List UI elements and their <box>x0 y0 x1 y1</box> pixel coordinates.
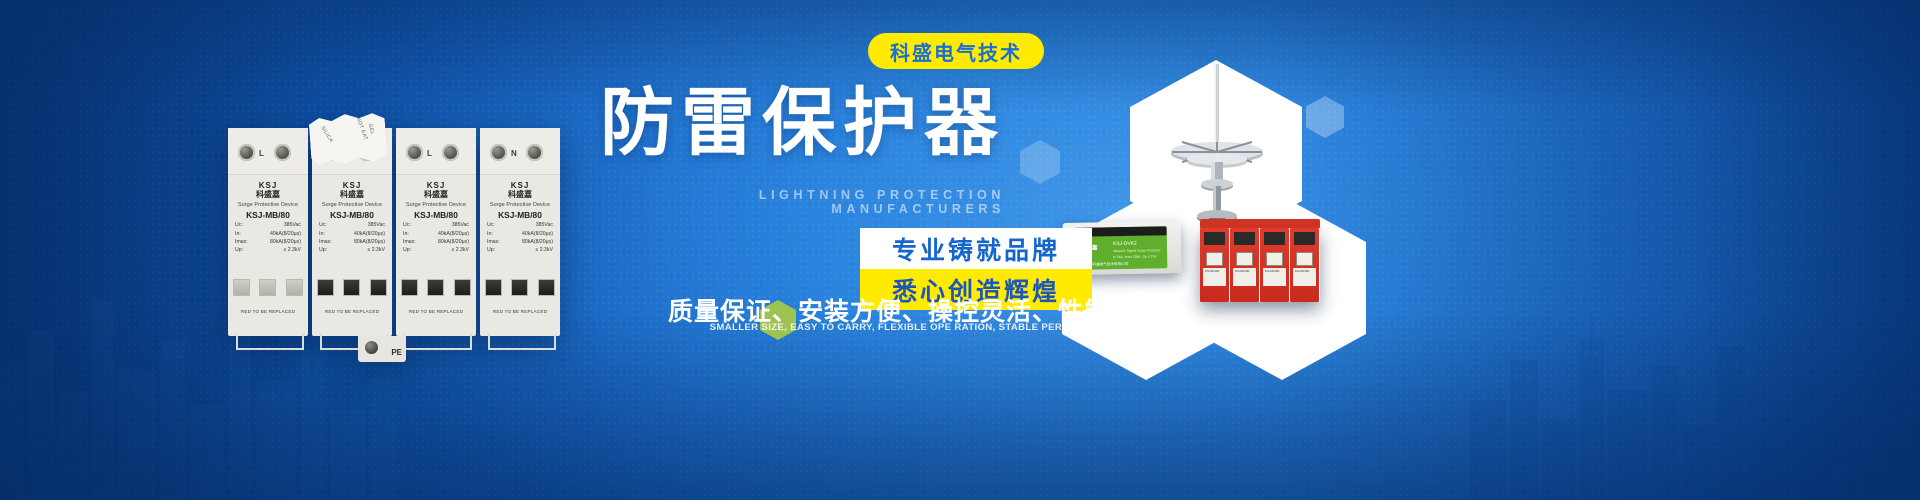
spec-label: Imax: <box>319 239 332 245</box>
replace-notice: RED TO BE REPLACED <box>396 309 476 314</box>
device-model-label: KSJ-MB/80 <box>233 210 303 220</box>
model-text: KSJ-B/100 <box>1235 270 1249 274</box>
status-window <box>454 279 471 296</box>
spd-module: L KSJ 科盛嘉 Surge Protective Device KSJ-MB… <box>228 128 308 336</box>
brand-logo: KSJ <box>401 182 471 190</box>
spd-label-face: KSJ 科盛嘉 Surge Protective Device KSJ-MB/8… <box>312 178 392 253</box>
status-window <box>1206 252 1223 266</box>
status-window <box>259 279 276 296</box>
device-type-label: Surge Protective Device <box>401 202 471 208</box>
spec-label: Uc: <box>403 222 411 228</box>
status-window <box>286 279 303 296</box>
spec-value: 40kA(8/20μs) <box>354 231 385 237</box>
spd-status-windows <box>396 279 476 296</box>
red-spd-pole: KSJ-B/100 <box>1200 228 1229 302</box>
pole-terminal-cap <box>1264 232 1285 245</box>
spd-terminal-block: L <box>396 134 476 174</box>
status-window <box>317 279 334 296</box>
pole-terminal-cap <box>1294 232 1315 245</box>
slogan-primary: 专业铸就品牌 <box>860 228 1092 269</box>
status-window <box>485 279 502 296</box>
spec-label: Imax: <box>487 239 500 245</box>
spec-label: Uc: <box>235 222 243 228</box>
spec-value: 385Vac <box>452 222 469 228</box>
spec-label: In: <box>235 231 241 237</box>
brand-name-cn: 科盛嘉 <box>233 191 303 200</box>
red-spd-pole: KSJ-B/100 <box>1260 228 1289 302</box>
pole-label: KSJ-B/100 <box>1293 268 1316 286</box>
terminal-screw-icon <box>365 341 378 354</box>
brand-name-cn: 科盛嘉 <box>317 191 387 200</box>
pole-terminal-cap <box>1234 232 1255 245</box>
network-spd-line2: In 5kA, Imax 10kA, Up ≤ 15V <box>1113 254 1157 259</box>
pole-label: KSJ-B/100 <box>1233 268 1256 286</box>
device-model-label: KSJ-MB/80 <box>485 210 555 220</box>
terminal-screw-icon <box>442 144 459 161</box>
spec-value: 385Vac <box>284 222 301 228</box>
status-window <box>233 279 250 296</box>
status-window <box>1296 252 1313 266</box>
features-en: SMALLER SIZE, EASY TO CARRY, FLEXIBLE OP… <box>605 322 1225 333</box>
spec-label: In: <box>403 231 409 237</box>
desiccant-packet: SILICA DO NOT EAT GEL <box>308 111 387 166</box>
spec-value: ≤ 2.3kV <box>535 247 553 253</box>
device-type-label: Surge Protective Device <box>233 202 303 208</box>
spec-label: In: <box>319 231 325 237</box>
din-rail-clip <box>488 334 556 350</box>
replace-notice: RED TO BE REPLACED <box>312 309 392 314</box>
din-rail-clip <box>404 334 472 350</box>
spec-value: 40kA(8/20μs) <box>438 231 469 237</box>
spec-label: Up: <box>487 247 495 253</box>
terminal-label: L <box>427 149 432 158</box>
spec-label: Uc: <box>487 222 495 228</box>
replace-notice: RED TO BE REPLACED <box>480 309 560 314</box>
red-surge-protector-product: KSJ-B/100 KSJ-B/100 KSJ-B/100 KSJ-B/100 <box>1200 228 1320 302</box>
brand-name-cn: 科盛嘉 <box>485 191 555 200</box>
spec-value: 80kA(8/20μs) <box>354 239 385 245</box>
spec-value: 40kA(8/20μs) <box>522 231 553 237</box>
spec-label: In: <box>487 231 493 237</box>
spec-value: 385Vac <box>536 222 553 228</box>
pole-terminal-cap <box>1204 232 1225 245</box>
desiccant-text: SILICA <box>319 125 334 144</box>
pe-earth-terminal: PE <box>358 336 406 362</box>
status-window <box>370 279 387 296</box>
spd-label-face: KSJ 科盛嘉 Surge Protective Device KSJ-MB/8… <box>396 178 476 253</box>
promo-banner: L KSJ 科盛嘉 Surge Protective Device KSJ-MB… <box>0 0 1920 500</box>
spec-label: Up: <box>319 247 327 253</box>
spec-label: Up: <box>403 247 411 253</box>
page-subtitle-en: LIGHTNING PROTECTION MANUFACTURERS <box>585 188 1005 216</box>
terminal-screw-icon <box>526 144 543 161</box>
terminal-screw-icon <box>490 144 507 161</box>
spec-value: 80kA(8/20μs) <box>438 239 469 245</box>
terminal-screw-icon <box>406 144 423 161</box>
red-spd-pole: KSJ-B/100 <box>1230 228 1259 302</box>
page-title: 防雷保护器 <box>585 86 1005 160</box>
model-text: KSJ-B/100 <box>1265 270 1279 274</box>
spd-module: N KSJ 科盛嘉 Surge Protective Device KSJ-MB… <box>480 128 560 336</box>
device-type-label: Surge Protective Device <box>317 202 387 208</box>
company-badge: 科盛电气技术 <box>868 33 1044 69</box>
brand-logo: KSJ <box>485 182 555 190</box>
spec-label: Imax: <box>403 239 416 245</box>
status-window <box>1236 252 1253 266</box>
device-model-label: KSJ-MB/80 <box>401 210 471 220</box>
pole-label: KSJ-B/100 <box>1203 268 1226 286</box>
company-badge-label: 科盛电气技术 <box>890 37 1022 66</box>
terminal-screw-icon <box>274 144 291 161</box>
status-window <box>427 279 444 296</box>
din-rail-clip <box>236 334 304 350</box>
terminal-label: N <box>511 149 517 158</box>
network-spd-model: KSJ-DVK2 <box>1113 241 1137 247</box>
spd-module: L KSJ 科盛嘉 Surge Protective Device KSJ-MB… <box>396 128 476 336</box>
device-type-label: Surge Protective Device <box>485 202 555 208</box>
pole-label: KSJ-B/100 <box>1263 268 1286 286</box>
model-text: KSJ-B/100 <box>1205 270 1219 274</box>
spd-top-cover <box>1200 219 1320 228</box>
spd-terminal-block: L <box>228 134 308 174</box>
status-window <box>511 279 528 296</box>
spd-status-windows <box>480 279 560 296</box>
network-spd-line1: Network Signal Surge Protector <box>1113 248 1161 253</box>
spd-label-face: KSJ 科盛嘉 Surge Protective Device KSJ-MB/8… <box>228 178 308 253</box>
spec-label: Up: <box>235 247 243 253</box>
spec-value: 80kA(8/20μs) <box>522 239 553 245</box>
terminal-label: L <box>259 149 264 158</box>
spec-label: Uc: <box>319 222 327 228</box>
spd-status-windows <box>312 279 392 296</box>
brand-logo: KSJ <box>317 182 387 190</box>
spec-value: 80kA(8/20μs) <box>270 239 301 245</box>
terminal-screw-icon <box>238 144 255 161</box>
spec-value: ≤ 2.3kV <box>367 247 385 253</box>
spd-label-face: KSJ 科盛嘉 Surge Protective Device KSJ-MB/8… <box>480 178 560 253</box>
red-spd-pole: KSJ-B/100 <box>1290 228 1319 302</box>
status-window <box>538 279 555 296</box>
spec-value: ≤ 2.3kV <box>451 247 469 253</box>
pe-label: PE <box>391 348 402 357</box>
status-window <box>401 279 418 296</box>
spd-terminal-block: N <box>480 134 560 174</box>
status-window <box>1266 252 1283 266</box>
lightning-rod-product <box>1142 62 1292 244</box>
status-window <box>343 279 360 296</box>
brand-name-cn: 科盛嘉 <box>401 191 471 200</box>
device-model-label: KSJ-MB/80 <box>317 210 387 220</box>
desiccant-text: GEL <box>367 123 376 135</box>
hexagon-decor-small-right <box>1306 96 1344 138</box>
spec-label: Imax: <box>235 239 248 245</box>
brand-logo: KSJ <box>233 182 303 190</box>
spec-value: 40kA(8/20μs) <box>270 231 301 237</box>
spec-value: 385Vac <box>368 222 385 228</box>
surge-protector-module-group: L KSJ 科盛嘉 Surge Protective Device KSJ-MB… <box>228 128 558 336</box>
spd-status-windows <box>228 279 308 296</box>
model-text: KSJ-B/100 <box>1295 270 1309 274</box>
hexagon-decor-small-left <box>1020 140 1060 184</box>
spec-value: ≤ 2.3kV <box>283 247 301 253</box>
replace-notice: RED TO BE REPLACED <box>228 309 308 314</box>
